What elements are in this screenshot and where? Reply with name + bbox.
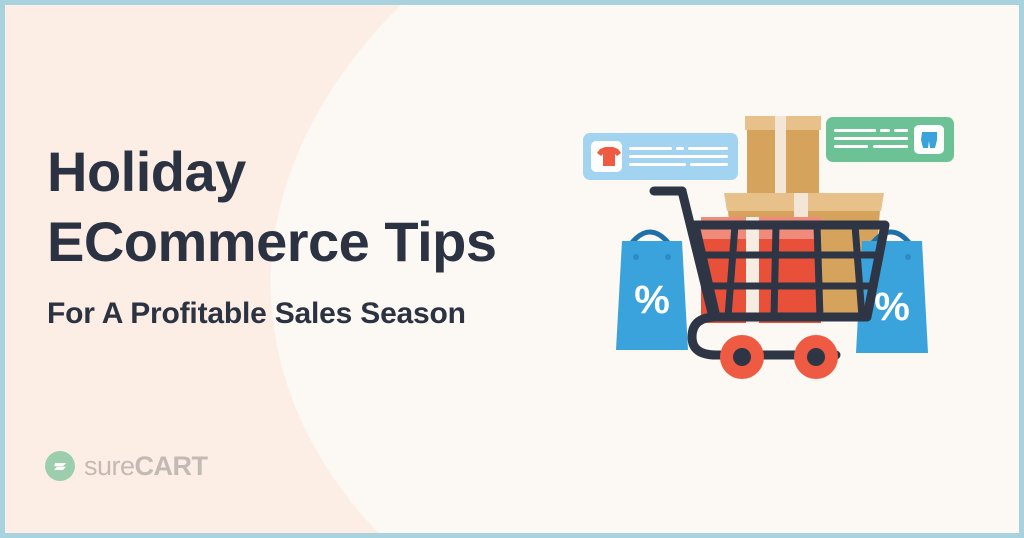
holiday-ecommerce-banner: Holiday ECommerce Tips For A Profitable … [0, 0, 1024, 538]
discount-bag-right: % [856, 232, 928, 353]
product-card-blue [583, 133, 738, 180]
product-card-blue-lines [629, 147, 728, 166]
headline-block: Holiday ECommerce Tips For A Profitable … [47, 137, 567, 333]
banner-canvas: Holiday ECommerce Tips For A Profitable … [5, 5, 1019, 533]
surecart-logo-icon [45, 451, 75, 481]
discount-bag-right-label: % [874, 285, 910, 329]
page-subtitle: For A Profitable Sales Season [47, 295, 567, 333]
cart-wheel-right [794, 335, 838, 379]
logo-word-cart: CART [135, 451, 208, 481]
discount-bag-left: % [616, 232, 688, 350]
discount-bag-left-label: % [634, 278, 670, 322]
gift-box-red [701, 217, 821, 323]
holiday-shopping-cart-illustration: % % [570, 85, 990, 385]
product-card-green [826, 117, 954, 162]
cart-wheel-left [720, 335, 764, 379]
surecart-logo-text: sureCART [84, 453, 208, 480]
page-title: Holiday ECommerce Tips [47, 137, 567, 277]
logo-word-sure: sure [84, 451, 135, 481]
surecart-logo[interactable]: sureCART [45, 451, 208, 481]
